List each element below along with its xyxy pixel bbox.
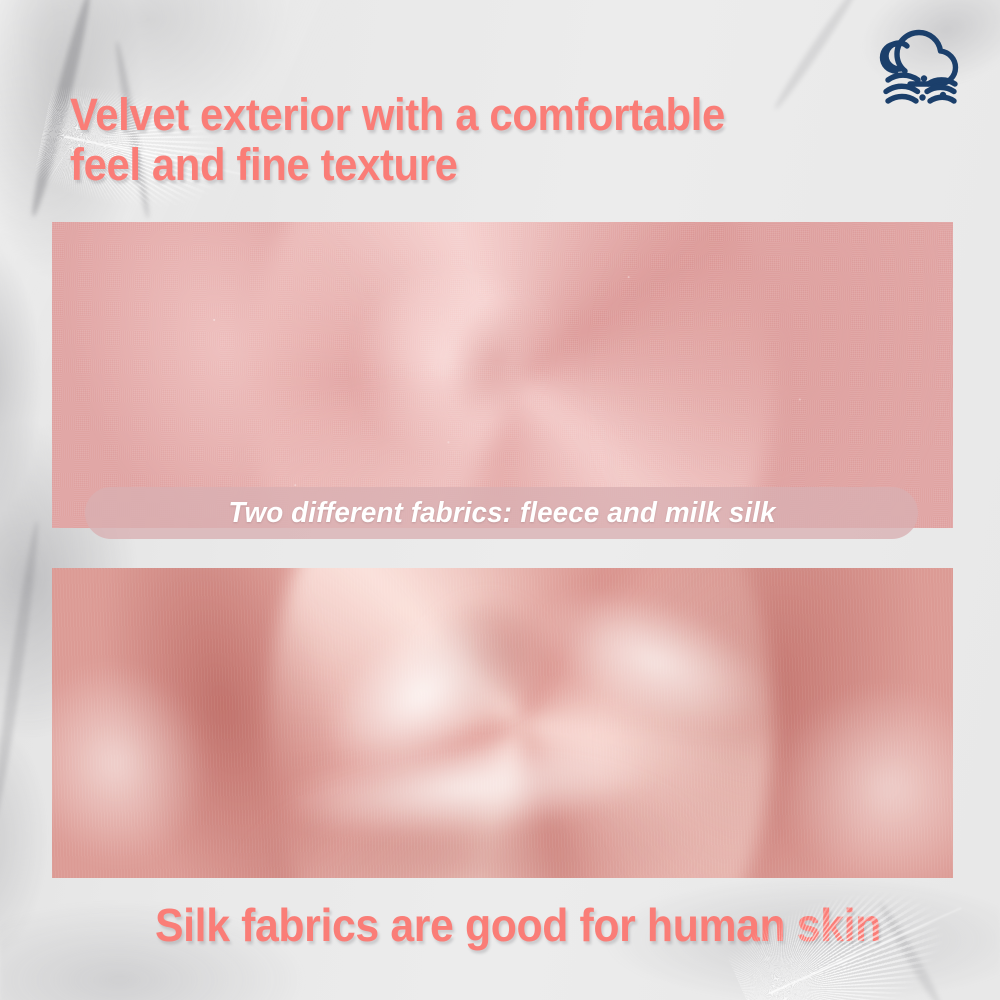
velvet-lint-specks: [52, 222, 953, 528]
silk-weave-texture: [52, 568, 953, 878]
page-title-bottom: Silk fabrics are good for human skin: [155, 900, 927, 952]
fabric-banner: Two different fabrics: fleece and milk s…: [85, 487, 918, 539]
fabric-banner-label: Two different fabrics: fleece and milk s…: [228, 497, 775, 530]
silk-fabric-photo: [52, 568, 953, 878]
page-title-top: Velvet exterior with a comfortable feel …: [70, 90, 805, 191]
cloud-fog-icon: [870, 28, 966, 108]
velvet-fabric-photo: [52, 222, 953, 528]
product-detail-image: Velvet exterior with a comfortable feel …: [0, 0, 1000, 1000]
